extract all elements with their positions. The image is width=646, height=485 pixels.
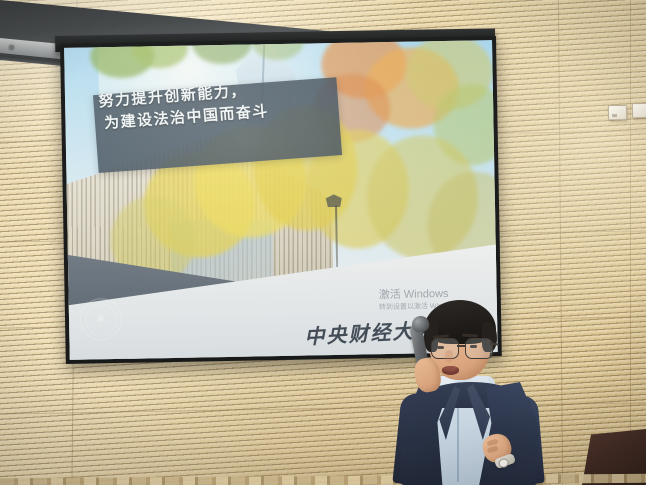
eyeglasses-icon xyxy=(427,338,495,358)
seal-inner-ring: ✶ xyxy=(84,303,117,336)
glasses-lens-right xyxy=(465,338,493,359)
speaker-mouth xyxy=(442,366,459,375)
wall-switch-plate-left[interactable] xyxy=(608,105,627,120)
speaker-nose xyxy=(445,350,453,363)
lecture-hall-photo: ✶ 努力提升创新能力， 为建设法治中国而奋斗 激活 Windows 转到设置以激… xyxy=(0,0,646,485)
wall-seam xyxy=(630,0,631,485)
speaker-person xyxy=(383,298,558,485)
ceiling-fixture-icon xyxy=(9,45,14,50)
wall-switch-plate-right[interactable] xyxy=(632,103,646,118)
switch-rocker-icon xyxy=(612,114,617,117)
glasses-bridge xyxy=(457,345,466,347)
seal-glyph: ✶ xyxy=(94,312,107,327)
